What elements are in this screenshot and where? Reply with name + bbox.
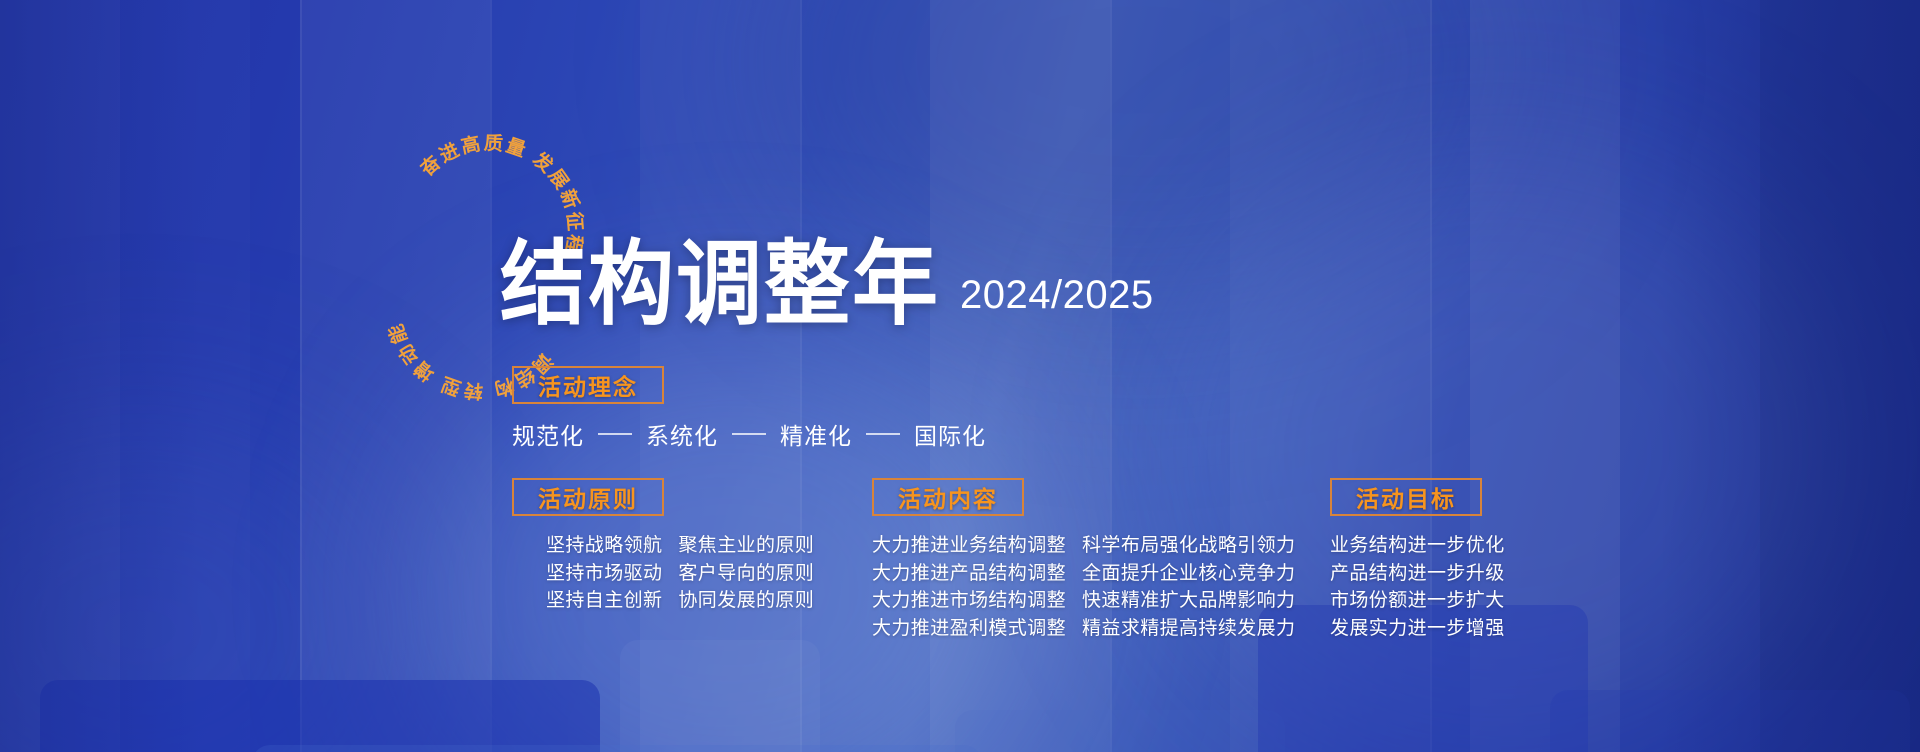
badge-activity-principle[interactable]: 活动原则: [512, 478, 664, 516]
principle-row-3-right: 协同发展的原则: [678, 587, 814, 615]
title-row: 结构调整年 2024/2025: [500, 248, 1154, 330]
content-row-4-right: 精益求精提高持续发展力: [1082, 615, 1295, 643]
list-item: 大力推进市场结构调整 快速精准扩大品牌影响力: [872, 587, 1295, 615]
concept-item-1: 规范化: [512, 417, 584, 451]
list-item: 产品结构进一步升级: [1330, 560, 1505, 588]
list-item: 市场份额进一步扩大: [1330, 587, 1505, 615]
year-label: 2024/2025: [960, 273, 1154, 318]
list-item: 坚持战略领航 聚焦主业的原则: [546, 532, 814, 560]
list-item: 大力推进产品结构调整 全面提升企业核心竞争力: [872, 560, 1295, 588]
badge-activity-principle-label: 活动原则: [538, 480, 638, 514]
badge-activity-content-label: 活动内容: [898, 480, 998, 514]
goal-row-1: 业务结构进一步优化: [1330, 532, 1505, 560]
concept-list: 规范化 系统化 精准化 国际化: [512, 417, 986, 451]
principle-row-1-left: 坚持战略领航: [546, 532, 662, 560]
badge-activity-idea-label: 活动理念: [538, 368, 638, 402]
column-goal: 业务结构进一步优化 产品结构进一步升级 市场份额进一步扩大 发展实力进一步增强: [1330, 532, 1505, 642]
list-item: 坚持市场驱动 客户导向的原则: [546, 560, 814, 588]
content-row-3-right: 快速精准扩大品牌影响力: [1082, 587, 1295, 615]
column-principle: 坚持战略领航 聚焦主业的原则 坚持市场驱动 客户导向的原则 坚持自主创新 协同发…: [546, 532, 814, 615]
principle-row-1-right: 聚焦主业的原则: [678, 532, 814, 560]
content-row-1-left: 大力推进业务结构调整: [872, 532, 1066, 560]
concept-item-2: 系统化: [646, 417, 718, 451]
content-row-2-left: 大力推进产品结构调整: [872, 560, 1066, 588]
list-item: 业务结构进一步优化: [1330, 532, 1505, 560]
list-item: 坚持自主创新 协同发展的原则: [546, 587, 814, 615]
concept-separator-3: [866, 433, 900, 435]
content-row-1-right: 科学布局强化战略引领力: [1082, 532, 1295, 560]
list-item: 发展实力进一步增强: [1330, 615, 1505, 643]
concept-separator-1: [598, 433, 632, 435]
badge-activity-goal[interactable]: 活动目标: [1330, 478, 1482, 516]
goal-row-4: 发展实力进一步增强: [1330, 615, 1505, 643]
badge-activity-goal-label: 活动目标: [1356, 480, 1456, 514]
goal-row-2: 产品结构进一步升级: [1330, 560, 1505, 588]
content-row-2-right: 全面提升企业核心竞争力: [1082, 560, 1295, 588]
badge-activity-idea[interactable]: 活动理念: [512, 366, 664, 404]
promo-banner: 奋进高质量 发展新征程 调结构 转型 增动能 结构调整年 2024/2025 活…: [0, 0, 1920, 752]
badge-activity-content[interactable]: 活动内容: [872, 478, 1024, 516]
concept-separator-2: [732, 433, 766, 435]
list-item: 大力推进盈利模式调整 精益求精提高持续发展力: [872, 615, 1295, 643]
page-title: 结构调整年: [500, 241, 940, 329]
goal-row-3: 市场份额进一步扩大: [1330, 587, 1505, 615]
concept-item-4: 国际化: [914, 417, 986, 451]
principle-row-2-left: 坚持市场驱动: [546, 560, 662, 588]
concept-item-3: 精准化: [780, 417, 852, 451]
content-row-3-left: 大力推进市场结构调整: [872, 587, 1066, 615]
column-content: 大力推进业务结构调整 科学布局强化战略引领力 大力推进产品结构调整 全面提升企业…: [872, 532, 1295, 642]
content-row-4-left: 大力推进盈利模式调整: [872, 615, 1066, 643]
principle-row-2-right: 客户导向的原则: [678, 560, 814, 588]
principle-row-3-left: 坚持自主创新: [546, 587, 662, 615]
list-item: 大力推进业务结构调整 科学布局强化战略引领力: [872, 532, 1295, 560]
